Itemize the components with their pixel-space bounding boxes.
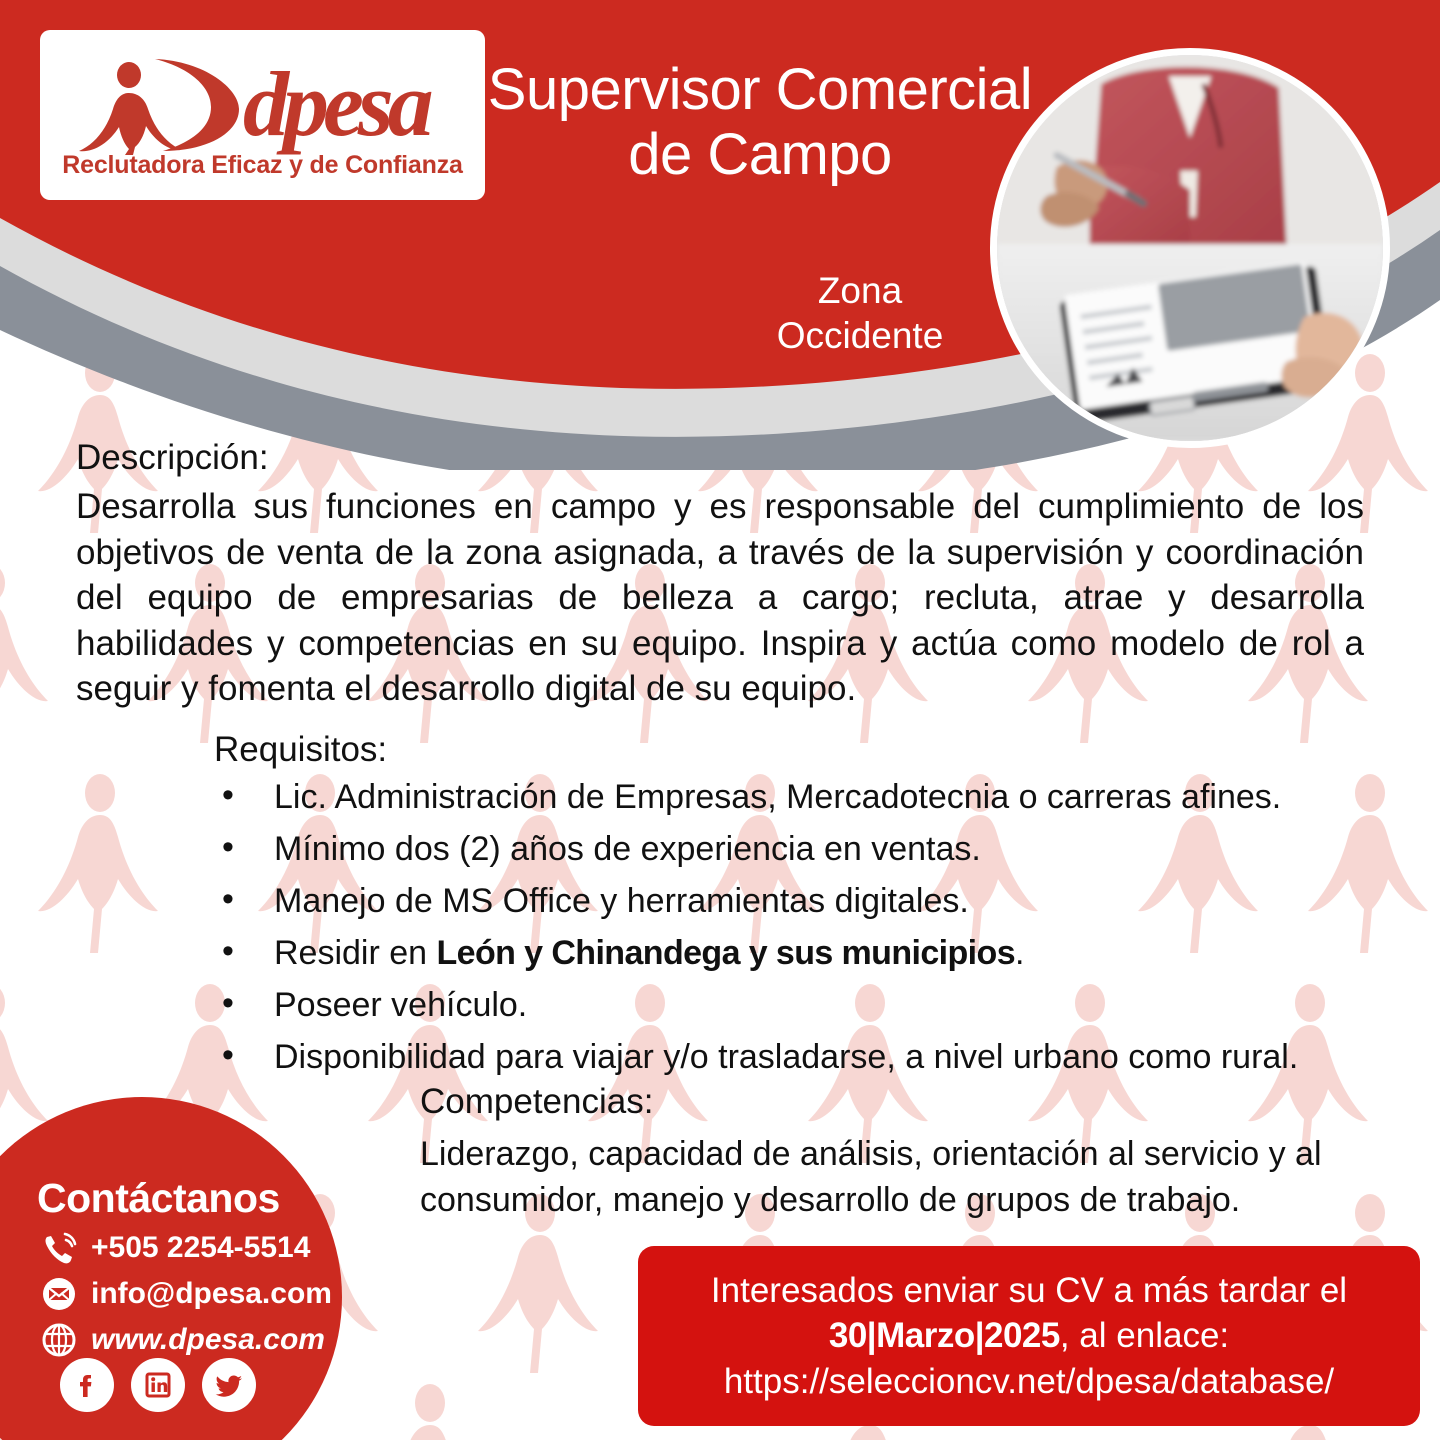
cta-line-1: Interesados enviar su CV a más tardar el	[711, 1268, 1347, 1314]
facebook-icon	[71, 1369, 103, 1401]
competencies-body: Liderazgo, capacidad de análisis, orient…	[420, 1132, 1360, 1224]
dpesa-logomark-icon: dpesa	[63, 47, 463, 155]
page-title: Supervisor Comercial de Campo	[480, 58, 1040, 188]
list-item: Poseer vehículo.	[214, 988, 1374, 1022]
list-item: Mínimo dos (2) años de experiencia en ve…	[214, 832, 1374, 866]
contact-title: Contáctanos	[37, 1175, 395, 1222]
competencies-label: Competencias:	[420, 1082, 1360, 1122]
requirements-section: Requisitos: Lic. Administración de Empre…	[214, 730, 1374, 1092]
requirement-suffix: .	[1015, 934, 1024, 972]
contact-website: www.dpesa.com	[91, 1323, 325, 1357]
contact-email: info@dpesa.com	[91, 1277, 332, 1311]
contact-phone: +505 2254-5514	[91, 1231, 310, 1265]
svg-text:dpesa: dpesa	[243, 53, 432, 155]
description-body: Desarrolla sus funciones en campo y es r…	[76, 484, 1364, 712]
logo-tagline: Reclutadora Eficaz y de Confianza	[62, 151, 462, 180]
contact-phone-row[interactable]: +505 2254-5514	[37, 1226, 395, 1270]
twitter-button[interactable]	[202, 1358, 256, 1412]
globe-icon	[37, 1318, 81, 1362]
job-posting-poster: dpesa Reclutadora Eficaz y de Confianza …	[0, 0, 1440, 1440]
job-zone-line1: Zona	[700, 268, 1020, 313]
job-title-line1: Supervisor Comercial	[480, 58, 1040, 123]
requirement-location: León y Chinandega y sus municipios	[437, 934, 1016, 972]
linkedin-button[interactable]	[131, 1358, 185, 1412]
cta-deadline-date: 30|Marzo|2025	[829, 1316, 1060, 1355]
social-links	[60, 1358, 256, 1412]
contact-email-row[interactable]: info@dpesa.com	[37, 1272, 395, 1316]
envelope-icon	[37, 1272, 81, 1316]
list-item: Lic. Administración de Empresas, Mercado…	[214, 780, 1374, 814]
list-item: Manejo de MS Office y herramientas digit…	[214, 884, 1374, 918]
job-title-line2: de Campo	[480, 123, 1040, 188]
list-item: Disponibilidad para viajar y/o trasladar…	[214, 1040, 1374, 1074]
twitter-icon	[213, 1369, 245, 1401]
contact-block: Contáctanos +505 2254-5514 inf	[95, 1175, 395, 1364]
requirements-label: Requisitos:	[214, 730, 1374, 770]
list-item: Residir en León y Chinandega y sus munic…	[214, 936, 1374, 970]
facebook-button[interactable]	[60, 1358, 114, 1412]
requirements-list: Lic. Administración de Empresas, Mercado…	[214, 780, 1374, 1074]
cta-line-2: 30|Marzo|2025, al enlace:	[829, 1313, 1229, 1359]
phone-icon	[37, 1226, 81, 1270]
company-logo: dpesa Reclutadora Eficaz y de Confianza	[40, 30, 485, 200]
cta-line-2-suffix: , al enlace:	[1060, 1316, 1229, 1355]
job-zone-line2: Occidente	[700, 313, 1020, 358]
competencies-section: Competencias: Liderazgo, capacidad de an…	[420, 1082, 1360, 1224]
job-zone: Zona Occidente	[700, 268, 1020, 358]
description-section: Descripción: Desarrolla sus funciones en…	[76, 438, 1364, 712]
interview-photo	[990, 48, 1390, 448]
cta-apply-banner[interactable]: Interesados enviar su CV a más tardar el…	[638, 1246, 1420, 1426]
contact-website-row[interactable]: www.dpesa.com	[37, 1318, 395, 1362]
requirement-prefix: Residir en	[274, 934, 437, 972]
linkedin-icon	[142, 1369, 174, 1401]
cta-application-link[interactable]: https://seleccioncv.net/dpesa/database/	[724, 1359, 1334, 1405]
